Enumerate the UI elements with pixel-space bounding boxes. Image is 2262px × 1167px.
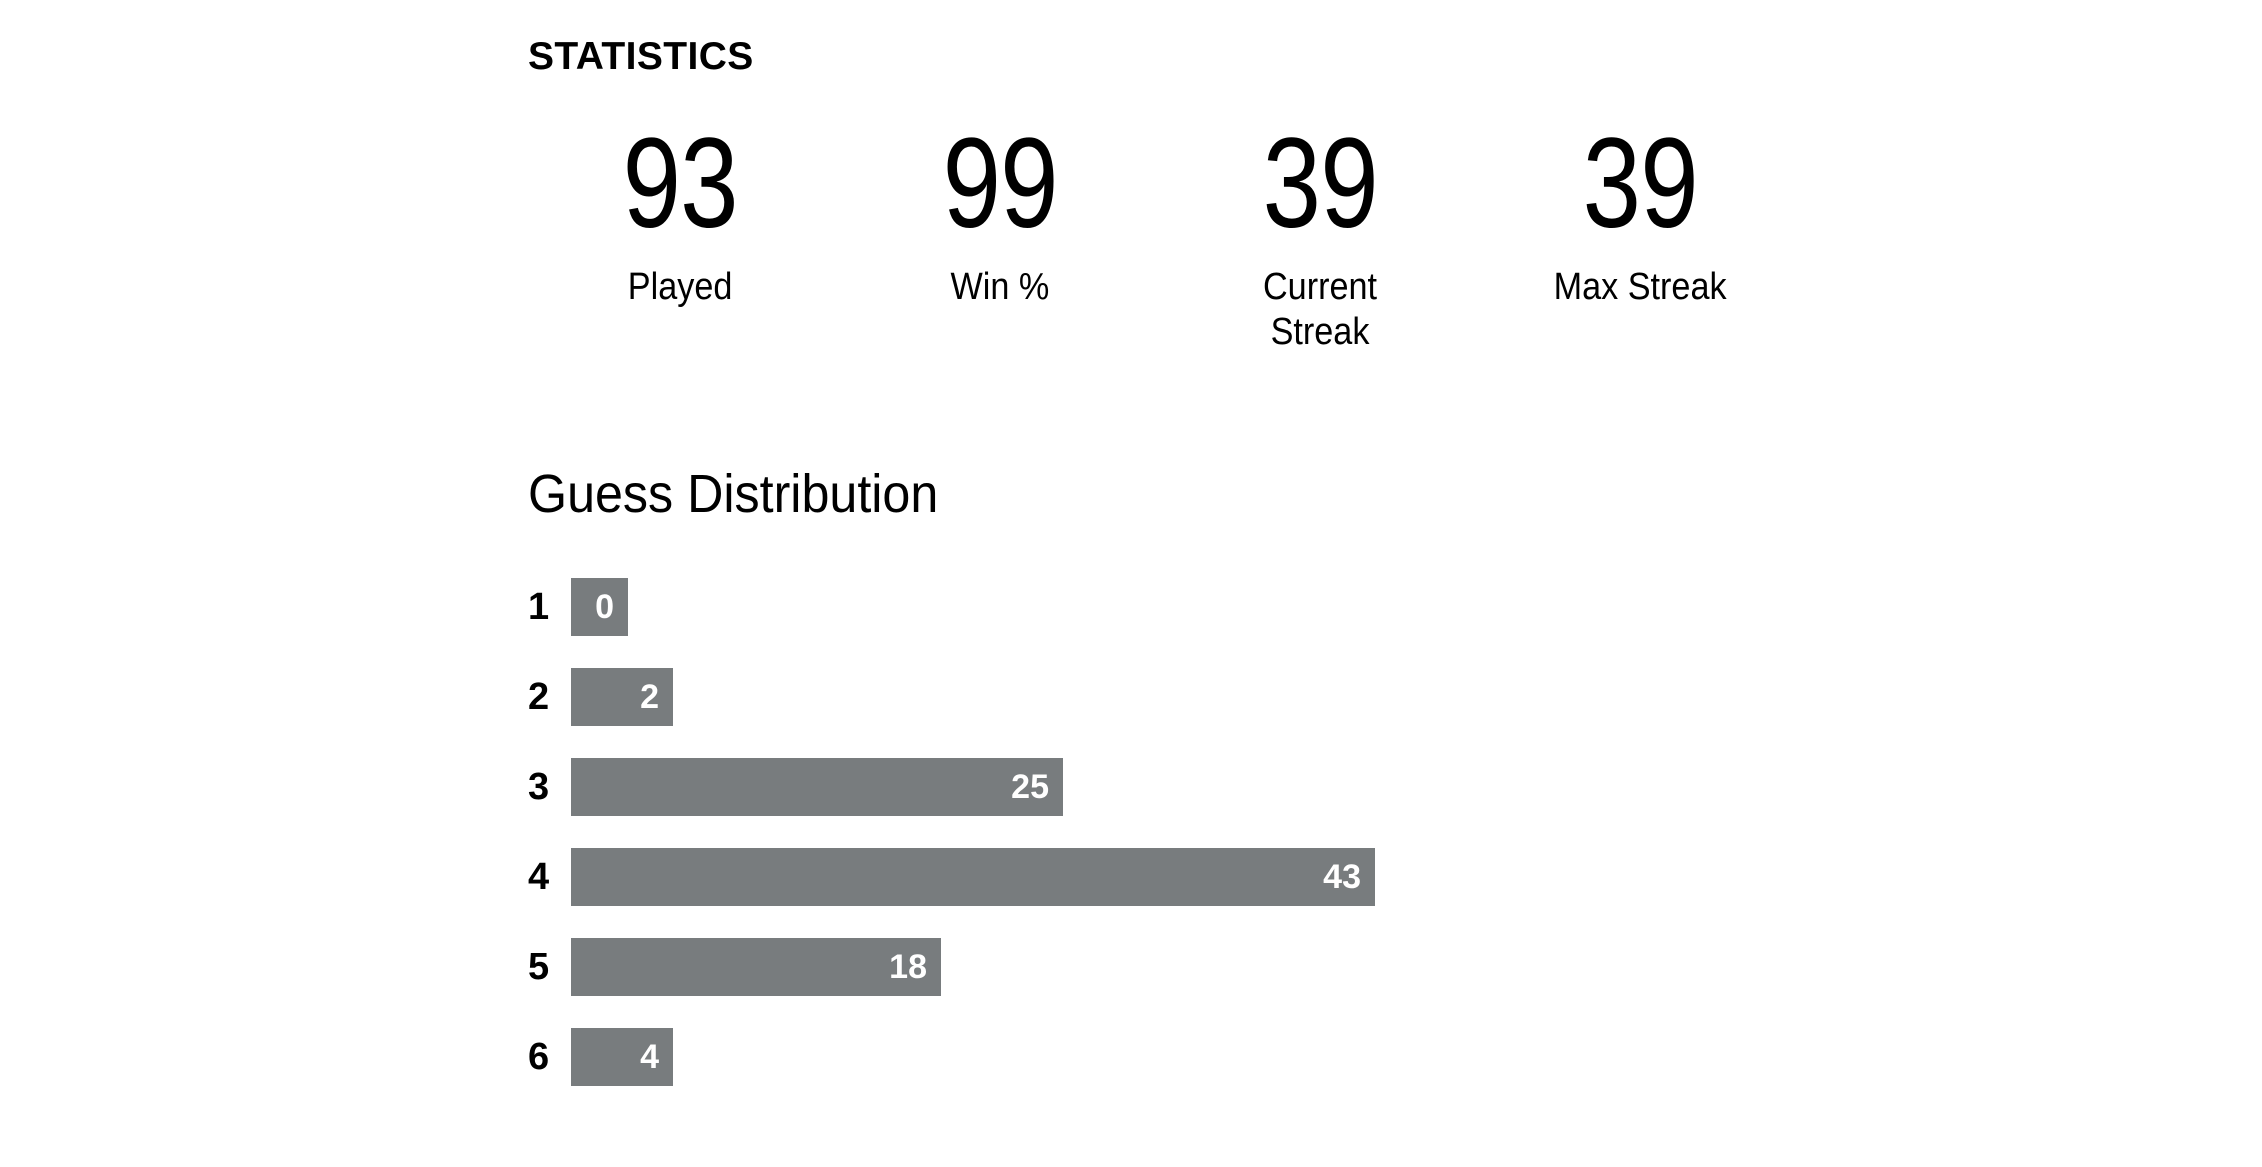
distribution-bar-value: 25 (1011, 770, 1049, 804)
guess-distribution-title: Guess Distribution (528, 465, 938, 524)
stat-current-streak-label: Current Streak (1226, 265, 1415, 355)
summary-stats: 93 Played 99 Win % 39 Current Streak 39 … (520, 125, 1800, 354)
distribution-bar: 25 (571, 758, 1063, 816)
statistics-page: STATISTICS 93 Played 99 Win % 39 Current… (0, 0, 2262, 1167)
stat-current-streak-value: 39 (1262, 125, 1377, 243)
distribution-bar: 0 (571, 578, 628, 636)
distribution-row: 443 (528, 848, 2128, 906)
stat-max-streak-label: Max Streak (1554, 265, 1727, 310)
distribution-bar-value: 43 (1323, 860, 1361, 894)
distribution-bar-value: 4 (640, 1040, 659, 1074)
distribution-row-rank: 6 (528, 1038, 571, 1076)
stat-max-streak-value: 39 (1582, 125, 1697, 243)
page-title: STATISTICS (528, 36, 754, 79)
distribution-bar-track: 0 (571, 578, 2128, 636)
distribution-bar-track: 18 (571, 938, 2128, 996)
distribution-bar-track: 43 (571, 848, 2128, 906)
distribution-bar: 4 (571, 1028, 673, 1086)
distribution-bar: 2 (571, 668, 673, 726)
distribution-row-rank: 3 (528, 768, 571, 806)
distribution-row-rank: 2 (528, 678, 571, 716)
stat-played: 93 Played (520, 125, 840, 310)
stat-played-value: 93 (622, 125, 737, 243)
stat-win-percent-value: 99 (942, 125, 1057, 243)
distribution-bar-value: 2 (640, 680, 659, 714)
distribution-bar-value: 18 (889, 950, 927, 984)
distribution-bar-track: 4 (571, 1028, 2128, 1086)
stat-max-streak: 39 Max Streak (1480, 125, 1800, 310)
distribution-row-rank: 1 (528, 588, 571, 626)
distribution-bar-track: 2 (571, 668, 2128, 726)
distribution-bar: 43 (571, 848, 1375, 906)
distribution-bar: 18 (571, 938, 941, 996)
distribution-bar-track: 25 (571, 758, 2128, 816)
distribution-row: 325 (528, 758, 2128, 816)
distribution-row-rank: 5 (528, 948, 571, 986)
distribution-row: 518 (528, 938, 2128, 996)
stat-win-percent-label: Win % (951, 265, 1050, 310)
stat-current-streak: 39 Current Streak (1160, 125, 1480, 354)
stat-win-percent: 99 Win % (840, 125, 1160, 310)
distribution-row: 22 (528, 668, 2128, 726)
distribution-row: 10 (528, 578, 2128, 636)
distribution-row-rank: 4 (528, 858, 571, 896)
guess-distribution-chart: 102232544351864 (528, 578, 2128, 1086)
distribution-row: 64 (528, 1028, 2128, 1086)
distribution-bar-value: 0 (595, 590, 614, 624)
stat-played-label: Played (628, 265, 733, 310)
